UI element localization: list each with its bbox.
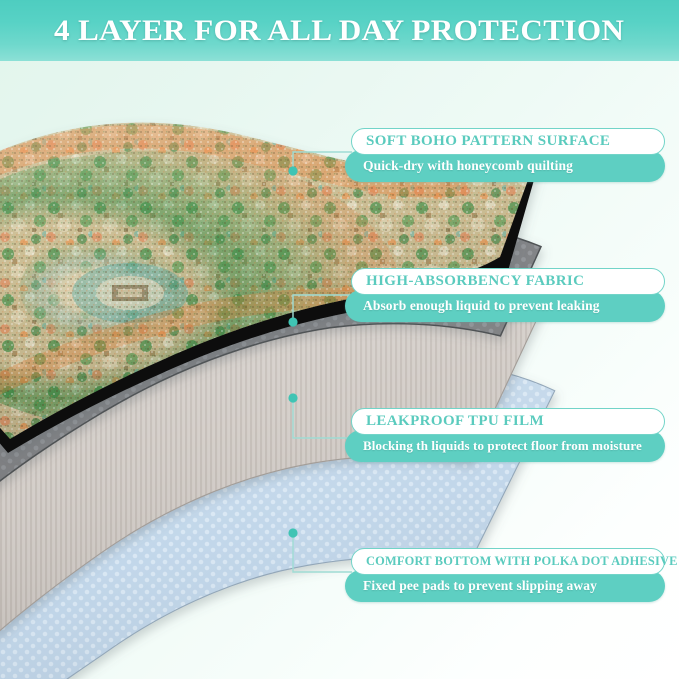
callout-title-box: SOFT BOHO PATTERN SURFACE [351,128,665,155]
callout-title-box: COMFORT BOTTOM WITH POLKA DOT ADHESIVE [351,548,665,575]
callout-title-box: HIGH-ABSORBENCY FABRIC [351,268,665,295]
callout-subtitle-text: Quick-dry with honeycomb quilting [363,158,573,174]
infographic-page: 4 LAYER FOR ALL DAY PROTECTION [0,0,679,679]
page-title: 4 LAYER FOR ALL DAY PROTECTION [54,14,624,48]
callout-title-text: COMFORT BOTTOM WITH POLKA DOT ADHESIVE [366,554,678,569]
callout-title-text: LEAKPROOF TPU FILM [366,413,544,430]
header-banner: 4 LAYER FOR ALL DAY PROTECTION [0,0,679,61]
callout-subtitle-text: Blocking th liquids to protect floor fro… [363,438,642,454]
callout-subtitle-text: Fixed pee pads to prevent slipping away [363,578,597,594]
callout-title-text: HIGH-ABSORBENCY FABRIC [366,273,584,290]
callout-subtitle-text: Absorb enough liquid to prevent leaking [363,298,600,314]
callout-title-box: LEAKPROOF TPU FILM [351,408,665,435]
callout-title-text: SOFT BOHO PATTERN SURFACE [366,133,610,150]
